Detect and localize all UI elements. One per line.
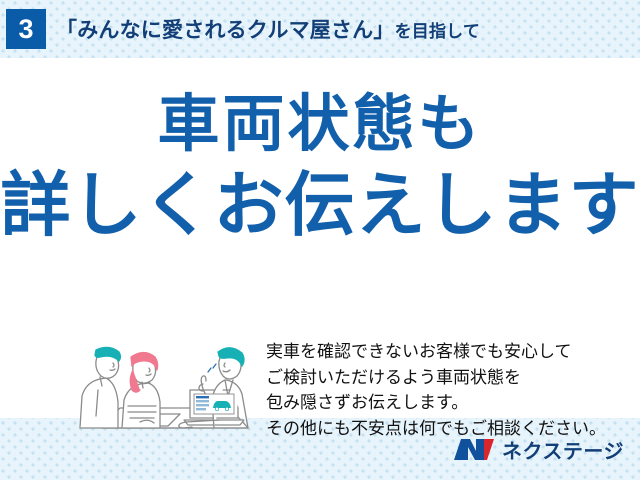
nextage-n-mark-icon (453, 436, 495, 462)
header-title-tail: を目指して (395, 17, 481, 42)
step-number-badge: 3 (6, 9, 46, 49)
footer-band: ネクステージ (0, 418, 640, 480)
body-copy-line: ご検討いただけるよう車両状態を (266, 365, 606, 391)
header-title-quoted: 「みんなに愛されるクルマ屋さん」 (56, 14, 395, 44)
body-copy-line: 包み隠さずお伝えします。 (266, 390, 606, 416)
body-copy-line: 実車を確認できないお客様でも安心して (266, 339, 606, 365)
header-title: 「みんなに愛されるクルマ屋さん」 を目指して (56, 0, 480, 58)
header-band: 3 「みんなに愛されるクルマ屋さん」 を目指して (0, 0, 640, 58)
headline-line-2: 詳しくお伝えします (0, 170, 640, 240)
nextage-logo: ネクステージ (453, 418, 624, 480)
headline-block: 車両状態も 詳しくお伝えします (0, 94, 640, 240)
advertisement-banner: 3 「みんなに愛されるクルマ屋さん」 を目指して 車両状態も 詳しくお伝えします (0, 0, 640, 480)
headline-line-1: 車両状態も (0, 94, 640, 156)
content-card: 車両状態も 詳しくお伝えします (0, 58, 640, 418)
nextage-logo-text: ネクステージ (502, 435, 624, 464)
laptop-screen-content (194, 394, 234, 414)
